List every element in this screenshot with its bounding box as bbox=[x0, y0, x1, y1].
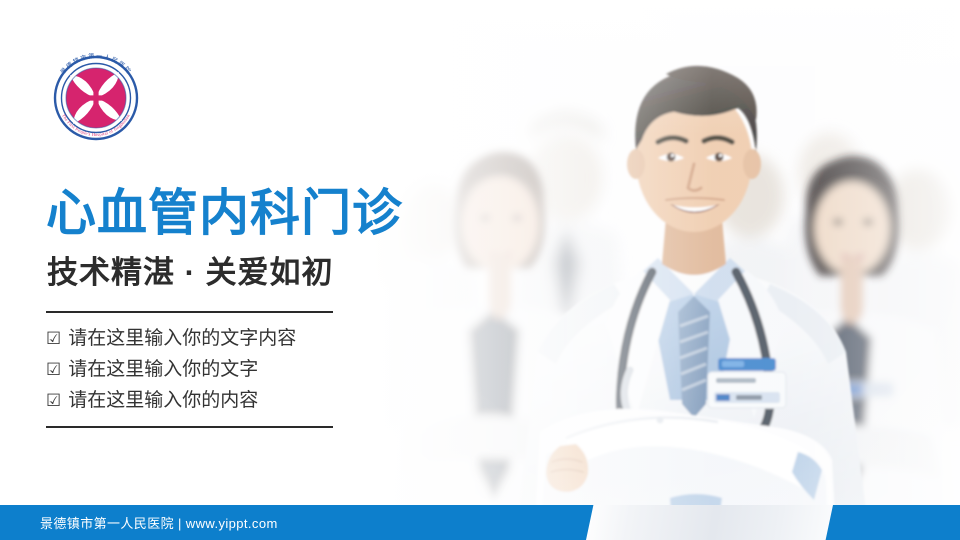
divider-top bbox=[46, 311, 333, 313]
hospital-logo-icon: 景德镇市第一人民医院 The First People's Hospital o… bbox=[44, 48, 148, 144]
bullet-list: ☑ 请在这里输入你的文字内容 ☑ 请在这里输入你的文字 ☑ 请在这里输入你的内容 bbox=[46, 324, 376, 416]
list-item: ☑ 请在这里输入你的内容 bbox=[46, 386, 376, 417]
footer-text: 景德镇市第一人民医院 | www.yippt.com bbox=[40, 505, 278, 540]
presentation-slide: 景德镇市第一人民医院 The First People's Hospital o… bbox=[0, 0, 960, 540]
page-subtitle: 技术精湛 · 关爱如初 bbox=[47, 254, 334, 293]
checkbox-icon: ☑ bbox=[46, 356, 61, 384]
list-item: ☑ 请在这里输入你的文字 bbox=[46, 355, 376, 386]
divider-bottom bbox=[46, 426, 333, 428]
coat-overlay bbox=[586, 505, 833, 540]
medical-team-photo bbox=[370, 0, 960, 540]
checkbox-icon: ☑ bbox=[46, 387, 61, 415]
list-item: ☑ 请在这里输入你的文字内容 bbox=[46, 324, 376, 355]
list-item-label: 请在这里输入你的内容 bbox=[68, 386, 258, 417]
checkbox-icon: ☑ bbox=[46, 325, 61, 353]
list-item-label: 请在这里输入你的文字内容 bbox=[68, 324, 296, 355]
page-title: 心血管内科门诊 bbox=[46, 184, 403, 243]
list-item-label: 请在这里输入你的文字 bbox=[68, 355, 258, 386]
